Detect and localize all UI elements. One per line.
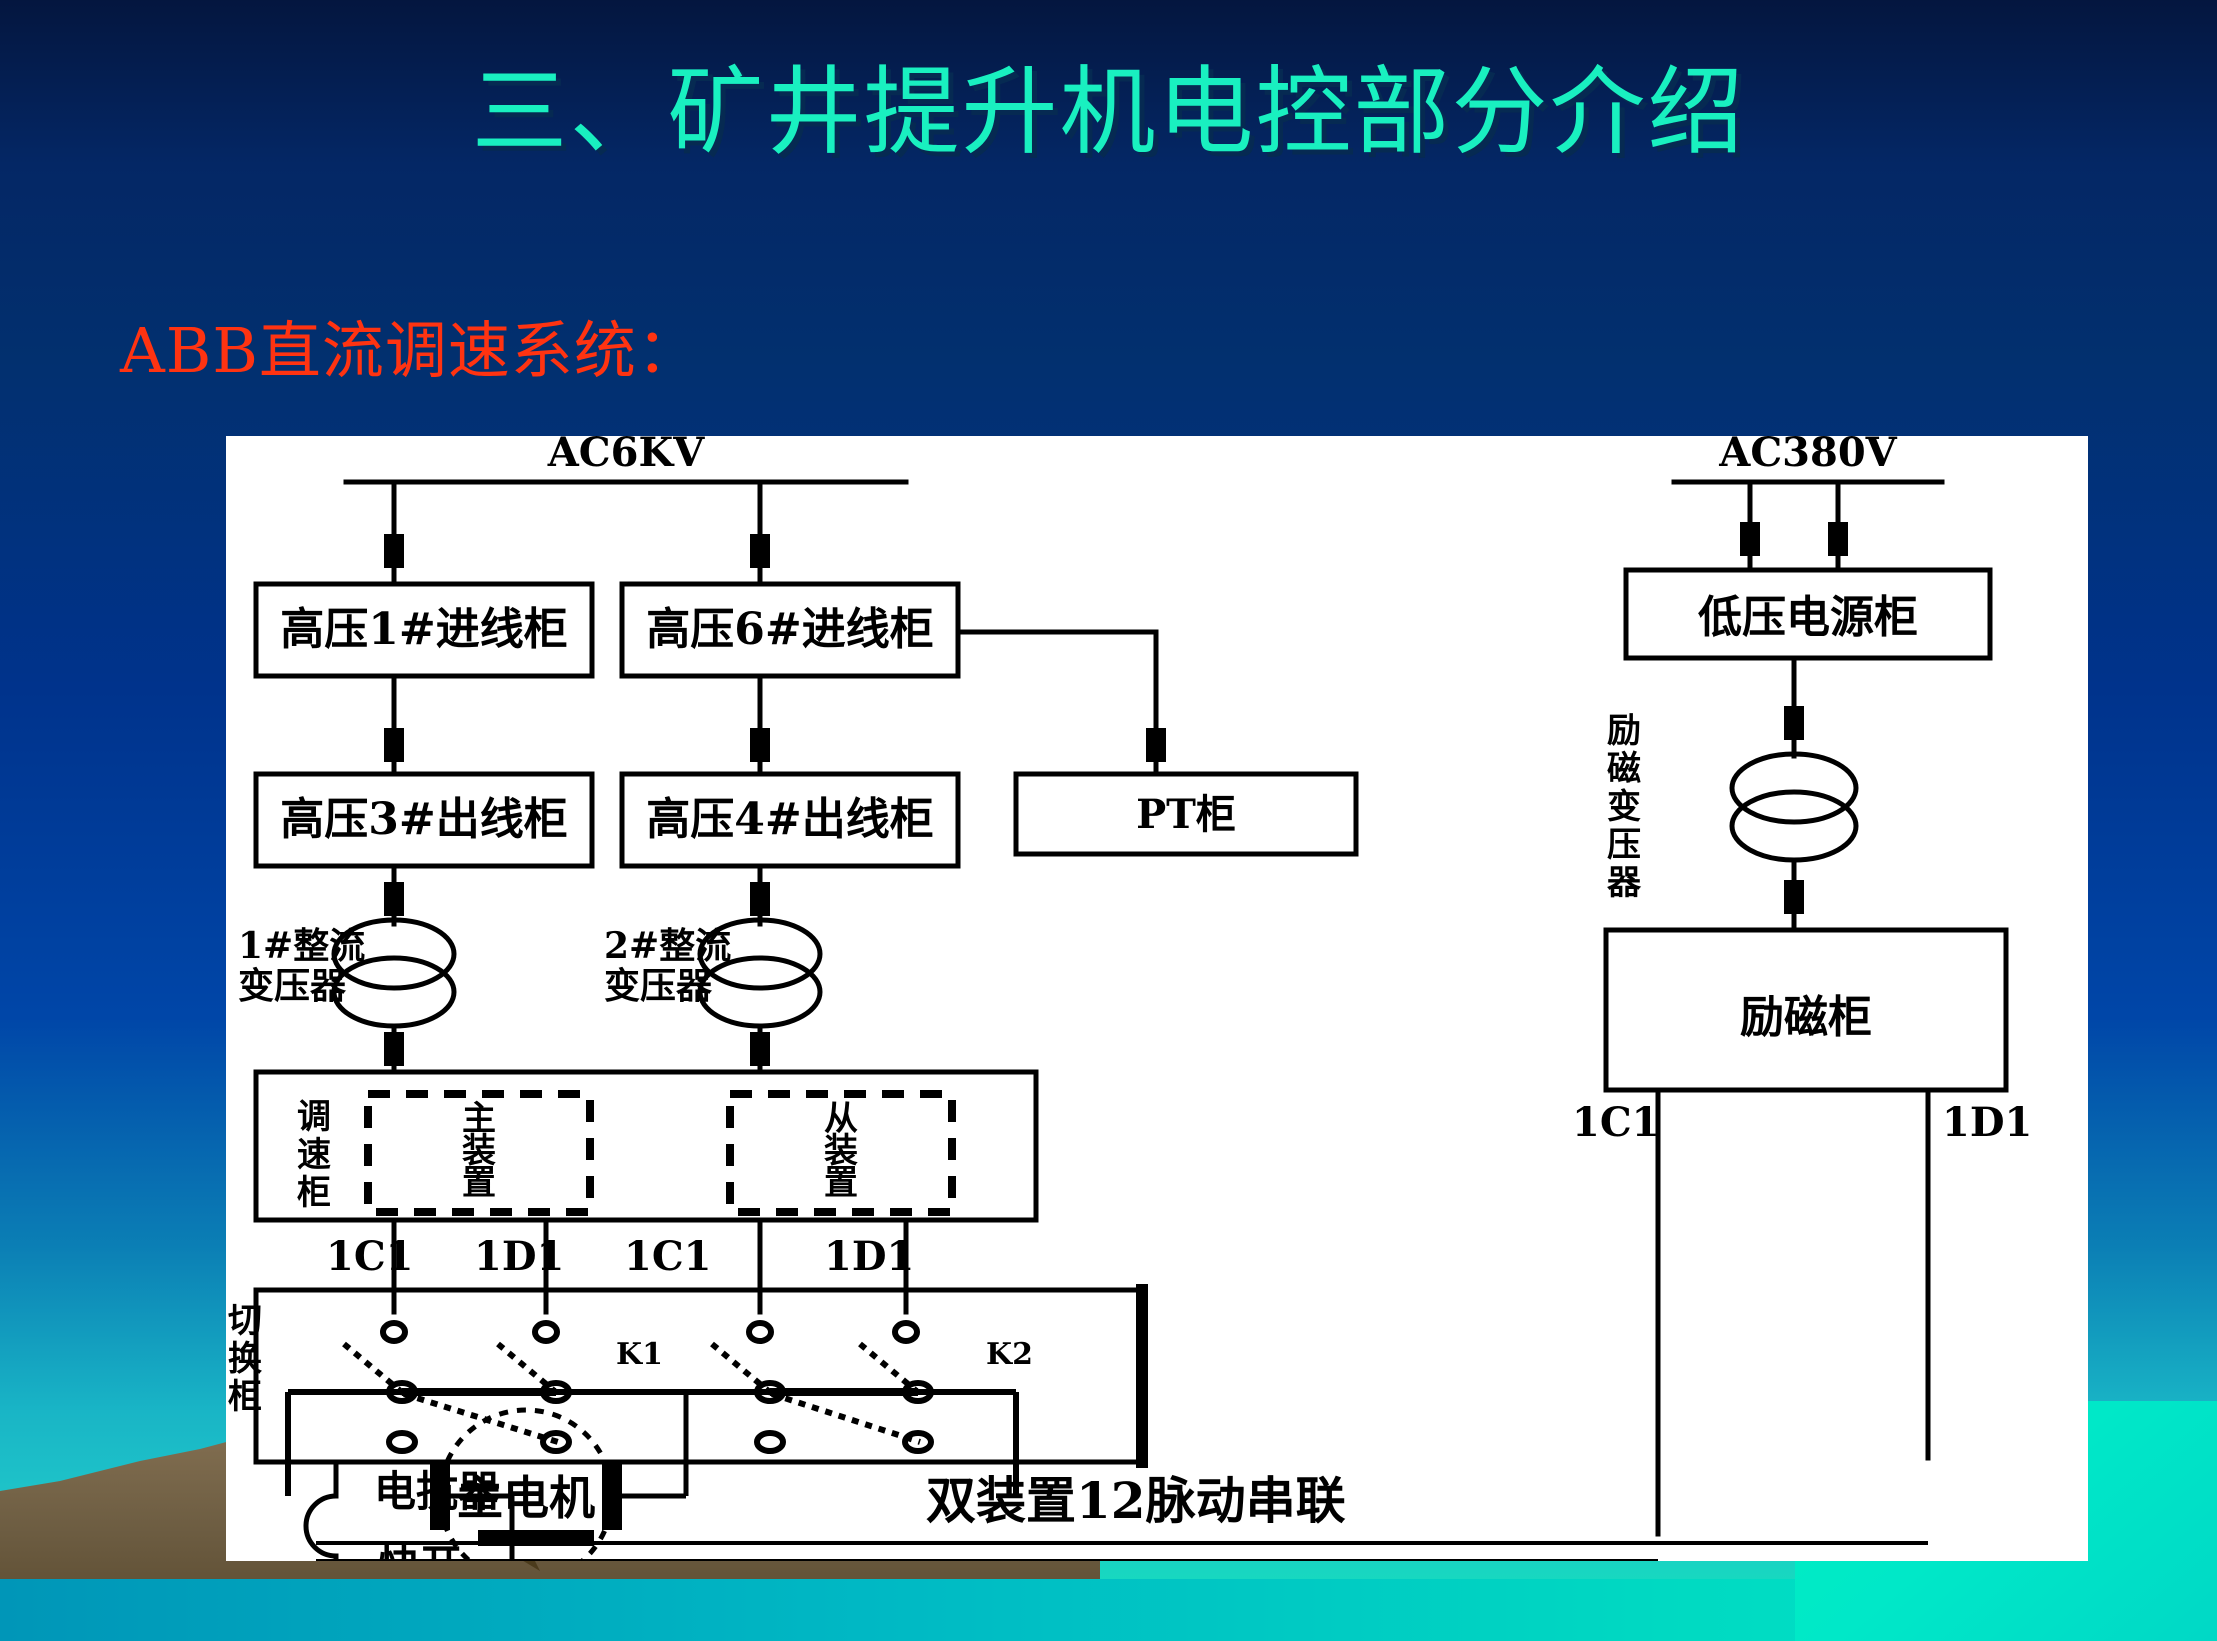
label-lv-power-cabinet: 低压电源柜 <box>1698 592 1918 643</box>
label-excitation-transformer-c2: 磁 <box>1607 749 1641 789</box>
label-terminal-1c1-b: 1C1 <box>624 1233 712 1280</box>
symbol-rect-transformer-2-lower <box>700 958 820 1026</box>
label-ac380v: AC380V <box>1718 436 1897 476</box>
label-speed-cabinet-c2: 速 <box>297 1135 331 1175</box>
label-speed-cabinet-c3: 柜 <box>297 1173 331 1213</box>
label-excitation-transformer-c5: 器 <box>1607 863 1642 903</box>
label-speed-cabinet-c1: 调 <box>297 1097 331 1137</box>
label-switching-cabinet-c2: 换 <box>228 1339 262 1379</box>
label-main-motor: 主电机 <box>457 1471 595 1525</box>
label-terminal-1d1-a: 1D1 <box>474 1233 564 1280</box>
label-hv6-incoming: 高压6#进线柜 <box>646 604 933 655</box>
label-hv3-outgoing: 高压3#出线柜 <box>280 794 567 845</box>
symbol-excitation-transformer-lower <box>1732 792 1856 860</box>
label-terminal-1c1-a: 1C1 <box>326 1233 414 1280</box>
label-rect-transformer-1-line1: 1#整流 <box>238 925 365 967</box>
label-ac6kv: AC6KV <box>547 436 705 476</box>
label-pt-cabinet: PT柜 <box>1136 791 1236 838</box>
label-rect-transformer-2-line1: 2#整流 <box>604 925 731 967</box>
label-switch-k1: K1 <box>616 1337 663 1372</box>
label-excitation-transformer-c3: 变 <box>1607 787 1641 827</box>
label-terminal-1d1-c: 1D1 <box>1942 1099 2032 1146</box>
symbol-rect-transformer-1-lower <box>334 958 454 1026</box>
label-hv1-incoming: 高压1#进线柜 <box>280 604 567 655</box>
page-title: 三、矿井提升机电控部分介绍 <box>0 34 2217 173</box>
label-terminal-1c1-c: 1C1 <box>1572 1099 1660 1146</box>
diagram-panel: AC6KV AC380V 高压1#进线柜 高压6#进线柜 高压3#出线柜 高压4… <box>226 436 2088 1561</box>
label-master-device-c3: 置 <box>462 1163 496 1203</box>
label-rect-transformer-1-line2: 变压器 <box>238 965 347 1007</box>
label-switching-cabinet-c1: 切 <box>228 1301 262 1341</box>
symbol-excitation-transformer-upper <box>1732 754 1856 822</box>
symbol-reactor <box>306 1496 336 1556</box>
dashed-device-boxes <box>368 1094 952 1212</box>
section-subtitle: ABB直流调速系统： <box>120 300 700 390</box>
slide-canvas: 三、矿井提升机电控部分介绍 ABB直流调速系统： <box>0 0 2217 1641</box>
label-terminal-1d1-b: 1D1 <box>824 1233 914 1280</box>
label-switch-k2: K2 <box>986 1337 1033 1372</box>
label-excitation-transformer-c1: 励 <box>1607 711 1641 751</box>
label-fast-switch: 快开 <box>378 1541 462 1561</box>
label-topology-note: 双装置12脉动串联 <box>926 1471 1346 1530</box>
one-line-diagram: AC6KV AC380V 高压1#进线柜 高压6#进线柜 高压3#出线柜 高压4… <box>226 436 2088 1561</box>
label-hv4-outgoing: 高压4#出线柜 <box>646 794 933 845</box>
label-switching-cabinet-c3: 柜 <box>228 1377 262 1417</box>
label-excitation-transformer-c4: 压 <box>1607 825 1641 865</box>
label-excitation-cabinet: 励磁柜 <box>1740 992 1872 1043</box>
label-rect-transformer-2-line2: 变压器 <box>604 965 713 1007</box>
label-slave-device-c3: 置 <box>824 1163 858 1203</box>
